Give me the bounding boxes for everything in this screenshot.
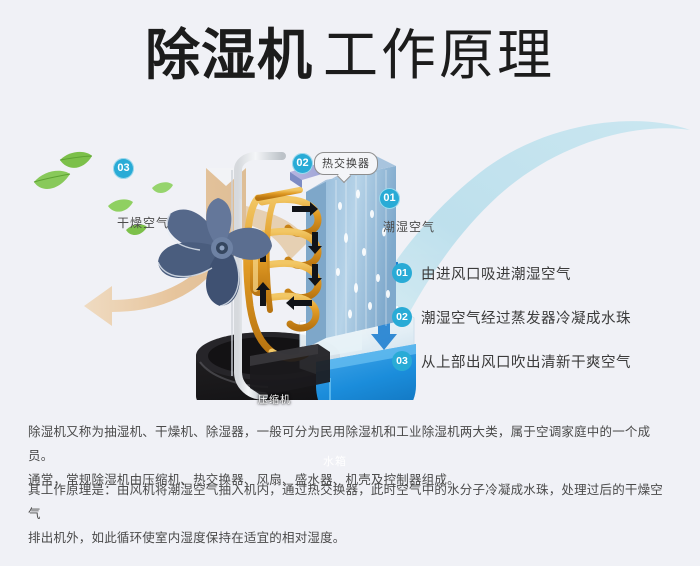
page-title: 除湿机工作原理 [0, 28, 700, 83]
legend-badge-01: 01 [392, 263, 412, 283]
paragraph-2-line-1: 其工作原理是：由风机将潮湿空气抽入机内，通过热交换器，此时空气中的水分子冷凝成水… [28, 478, 674, 526]
legend-text-03: 从上部出风口吹出清新干爽空气 [421, 351, 631, 372]
legend-list: 01 由进风口吸进潮湿空气 02 潮湿空气经过蒸发器冷凝成水珠 03 从上部出风… [392, 255, 692, 387]
page-title-primary: 除湿机 [145, 23, 313, 87]
legend-item-03: 03 从上部出风口吹出清新干爽空气 [392, 343, 692, 379]
badge-dry-air: 03 [113, 158, 134, 179]
label-dry-air: 干燥空气 [117, 214, 169, 231]
label-compressor: 压缩机 [258, 391, 291, 406]
paragraph-2-line-2: 排出机外，如此循环使室内湿度保持在适宜的相对湿度。 [28, 526, 674, 550]
body-paragraph-2: 其工作原理是：由风机将潮湿空气抽入机内，通过热交换器，此时空气中的水分子冷凝成水… [28, 478, 674, 550]
infographic-page: 除湿机工作原理 [0, 0, 700, 566]
label-humid-air: 潮湿空气 [383, 218, 435, 235]
legend-text-02: 潮湿空气经过蒸发器冷凝成水珠 [421, 307, 631, 328]
badge-humid-air: 01 [379, 188, 400, 209]
badge-heat-exchanger: 02 [292, 153, 313, 174]
legend-item-01: 01 由进风口吸进潮湿空气 [392, 255, 692, 291]
legend-text-01: 由进风口吸进潮湿空气 [421, 263, 571, 284]
legend-item-02: 02 潮湿空气经过蒸发器冷凝成水珠 [392, 299, 692, 335]
legend-badge-03: 03 [392, 351, 412, 371]
legend-badge-02: 02 [392, 307, 412, 327]
paragraph-1-line-1: 除湿机又称为抽湿机、干燥机、除湿器，一般可分为民用除湿机和工业除湿机两大类，属于… [28, 420, 674, 468]
callout-heat-exchanger: 热交换器 [314, 152, 378, 175]
page-title-secondary: 工作原理 [323, 24, 555, 86]
